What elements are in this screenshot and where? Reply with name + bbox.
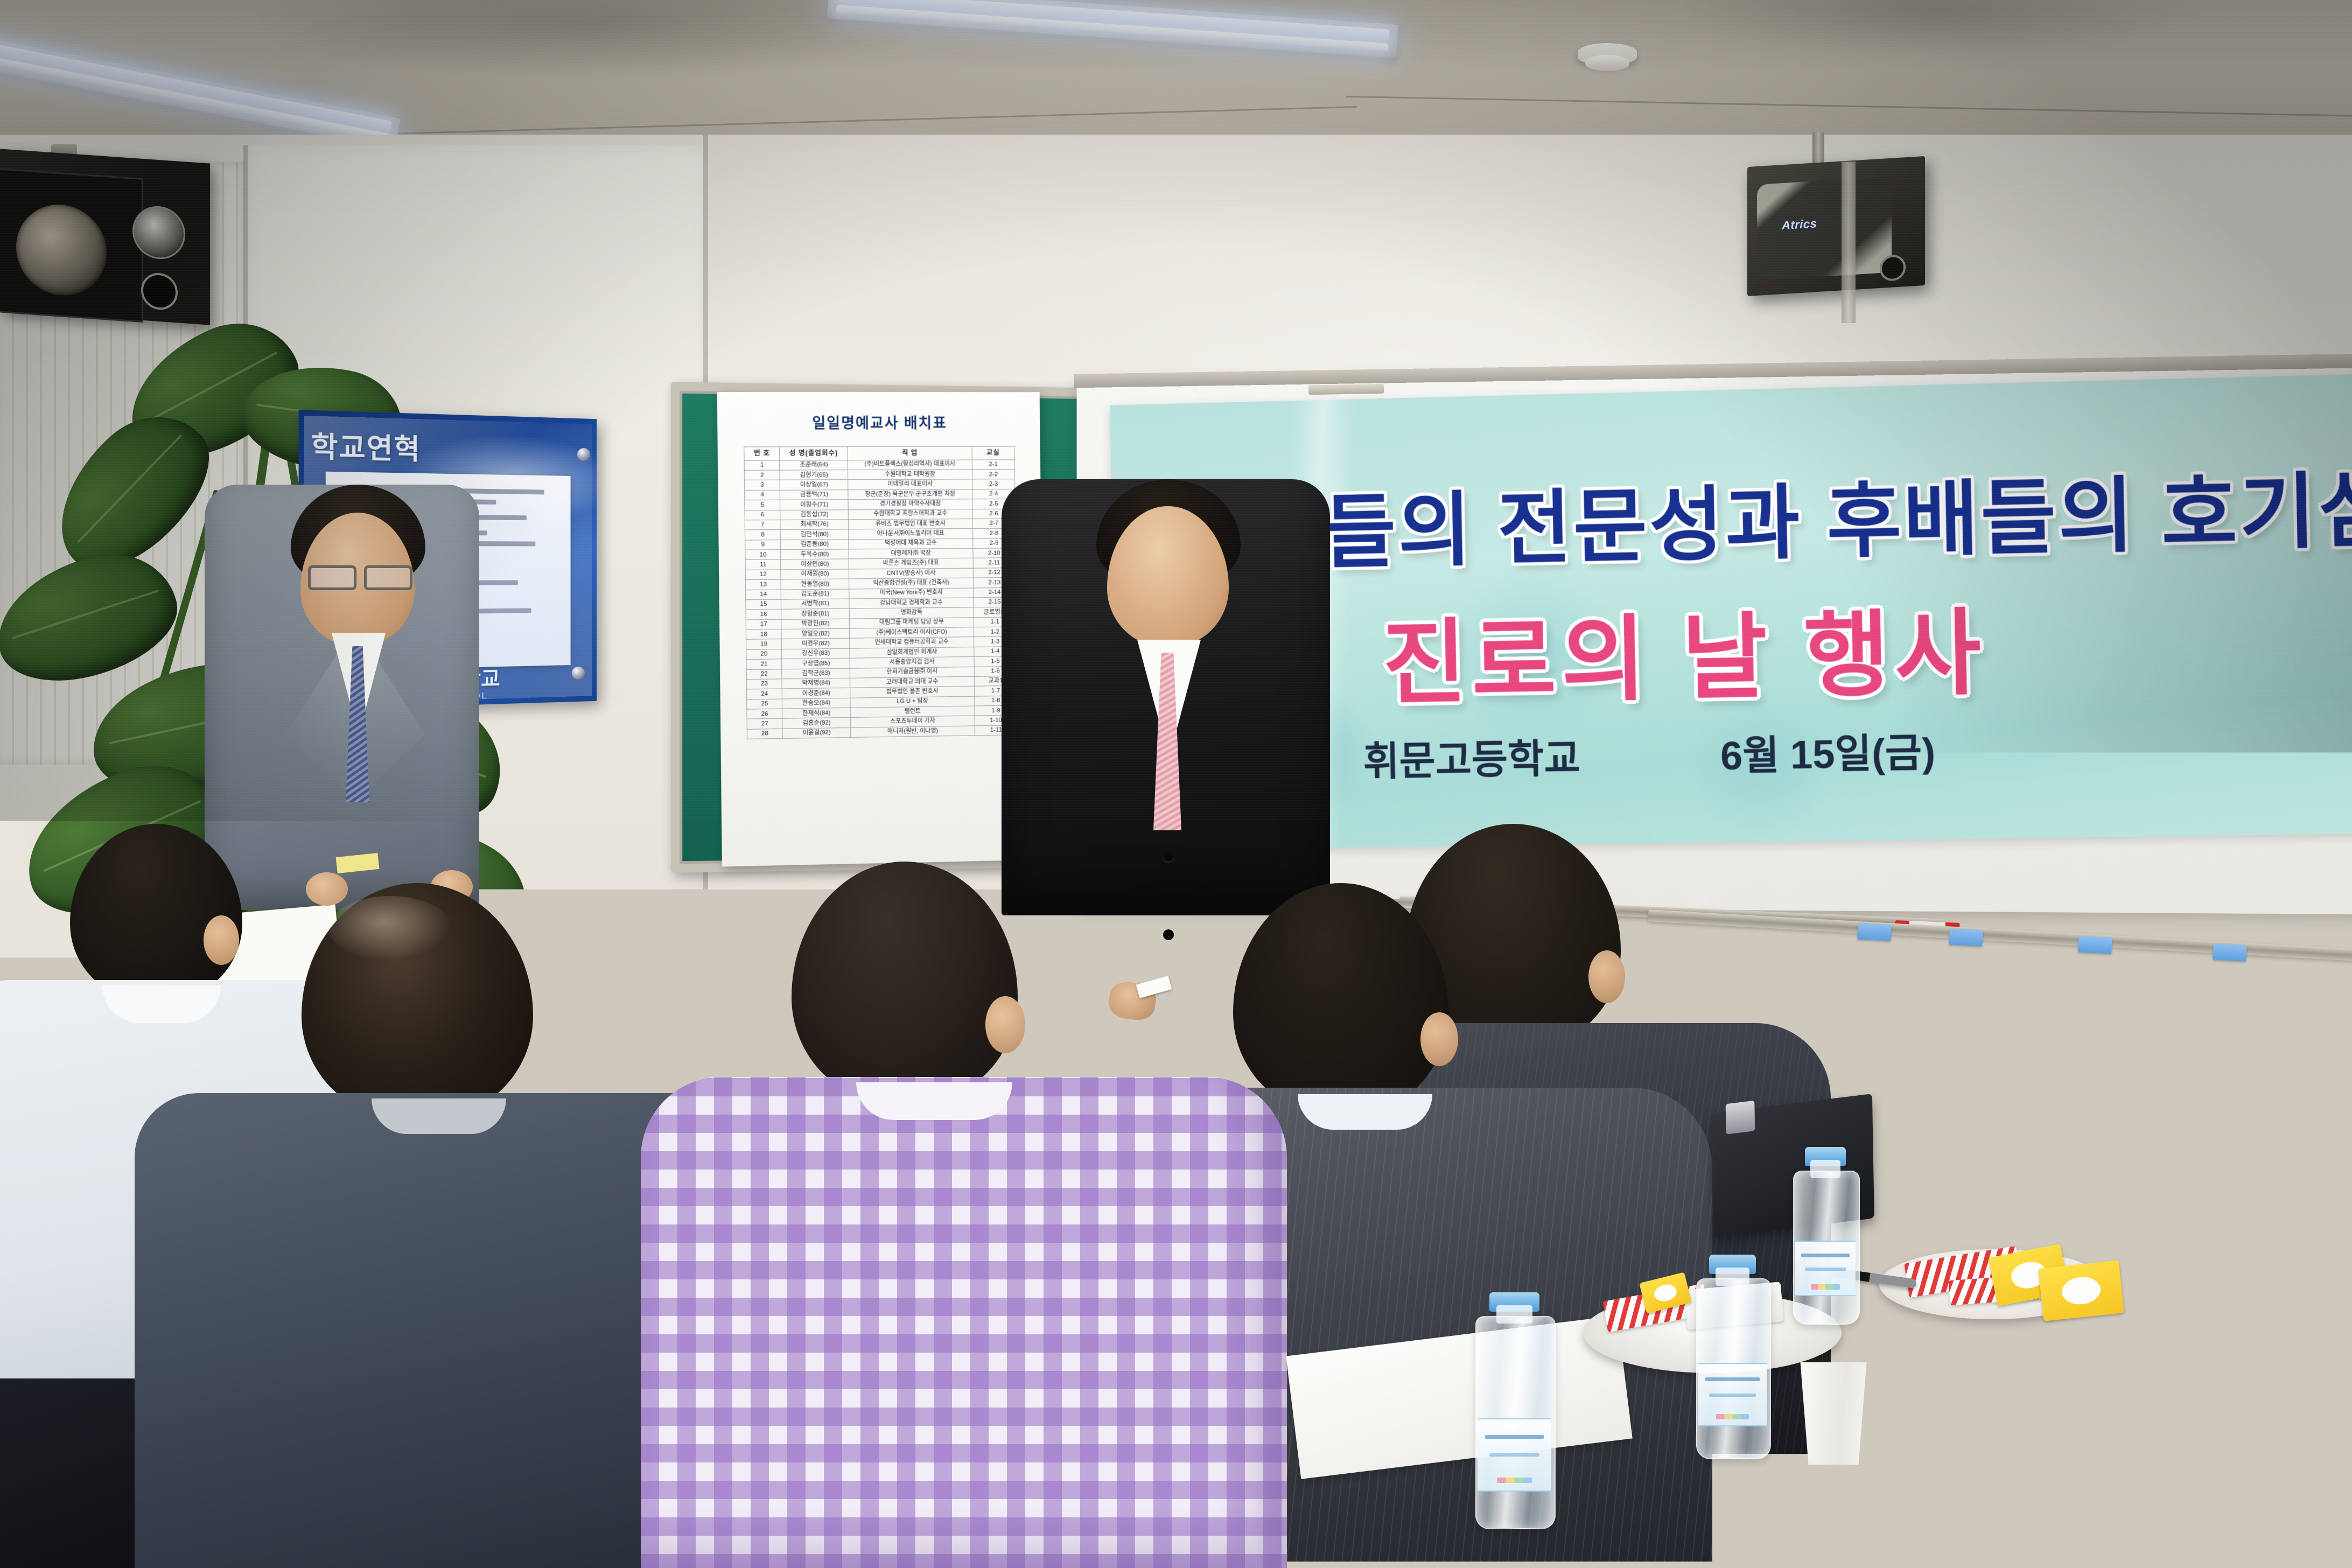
assignment-chart-sheet: 일일명예교사 배치표 번 호성 명(졸업회수)직 업교실 1조준래(64)(주)… [717,392,1045,867]
whiteboard-eraser[interactable] [1857,923,1891,941]
table-cell: 현동열(80) [781,579,849,589]
table-header-row: 번 호성 명(졸업회수)직 업교실 [744,446,1014,460]
table-cell: 금용백(71) [780,489,849,500]
table-cell: 이데일리 대표이사 [848,479,972,489]
table-cell: 1 [744,460,780,471]
table-cell: 이윤걸(92) [782,727,850,738]
table-row: 1조준래(64)(주)비트플렉스(왕십리역사) 대표이사2-1 [744,459,1014,470]
sign-header: 학교연혁 [311,424,421,467]
table-cell: 5 [745,500,780,510]
table-cell: 수원대학교 대학원장 [848,470,972,480]
speaker-mount [1812,132,1824,166]
table-cell: 14 [746,590,781,600]
table-cell: 김동섭(72) [780,509,849,520]
table-col-header-3: 교실 [971,446,1014,460]
smoke-detector-icon [1578,43,1637,66]
table-cell: 13 [745,579,781,590]
table-cell: 2-1 [972,459,1015,470]
table-cell: 19 [746,639,782,649]
table-cell: 서병학(81) [781,599,849,610]
banner-date: 6월 15일(금) [1720,720,1936,782]
speaker-brand-label: Atrics [1782,216,1817,233]
table-row: 4금용백(71)장군(준장) 육군본부 군구조개편 차장2-4 [745,489,1015,500]
table-cell: 강남대학교 경제학과 교수 [849,598,973,609]
banner-line-2: 진로의 날 행사 [1381,577,1987,722]
sheet-title: 일일명예교사 배치표 [717,411,1040,432]
table-cell: 익산종합건설(주) 대표 (건축사) [849,578,973,589]
table-cell: 이상일(67) [780,480,848,490]
table-row: 2김현기(65)수원대학교 대학원장2-2 [744,470,1014,480]
table-cell: 박재명(84) [782,678,850,689]
table-cell: 7 [745,520,780,530]
whiteboard-eraser[interactable] [2078,936,2112,954]
table-cell: 이경준(84) [782,688,850,699]
table-cell: 한승오(84) [782,698,850,709]
table-cell: 3 [744,480,780,491]
table-cell: 두욱수(80) [781,549,849,559]
table-cell: 이재원(80) [781,569,849,579]
table-cell: 덕성여대 체육과 교수 [849,538,972,549]
table-cell: 이경우(82) [782,639,850,649]
table-cell: 15 [746,599,781,610]
table-cell: CNTV(방송사) 이사 [849,568,973,579]
table-cell: 장항준(81) [781,608,849,619]
table-cell: 25 [747,699,782,709]
table-cell: 조준래(64) [780,460,848,470]
table-cell: 28 [747,729,782,739]
table-cell: (주)비트플렉스(왕십리역사) 대표이사 [848,460,972,470]
table-cell: 김학군(83) [782,668,850,679]
assignment-table: 번 호성 명(졸업회수)직 업교실 1조준래(64)(주)비트플렉스(왕십리역사… [744,446,1018,740]
table-cell: 18 [746,629,781,639]
table-cell: 이원수(71) [780,500,849,510]
table-cell: 영화감독 [849,607,973,619]
sign-stud [572,667,585,680]
table-cell: 8 [745,530,780,540]
table-cell: 23 [746,679,782,689]
table-cell: 21 [746,659,782,669]
projector-arm [1842,162,1856,323]
table-col-header-2: 직 업 [848,446,972,460]
table-cell: 2-2 [972,470,1015,480]
table-cell: 9 [745,540,781,550]
table-cell: 2 [744,470,780,480]
banner-school-name: 휘문고등학교 [1363,726,1581,787]
seated-attendee-gingham-shirt [695,862,1244,1568]
table-cell: 27 [747,719,782,729]
banner-clip [1308,384,1384,395]
table-cell: 22 [746,669,782,679]
table-cell: 경기경찰청 마약수사대장 [848,499,972,509]
table-cell: 미국(New York주) 변호사 [849,588,973,599]
table-cell: 16 [746,610,781,620]
water-bottle[interactable] [1475,1292,1553,1529]
table-cell: 26 [747,709,782,719]
table-cell: 김홍순(92) [782,718,850,729]
table-cell: 6 [745,510,780,520]
table-cell: 20 [746,649,782,659]
table-col-header-0: 번 호 [744,447,780,460]
whiteboard-eraser[interactable] [2213,943,2246,961]
table-row: 5이원수(71)경기경찰청 마약수사대장2-5 [745,499,1015,510]
table-cell: 김현기(65) [780,470,848,480]
table-cell: 24 [747,689,782,699]
table-cell: 박광진(82) [781,619,849,629]
table-cell: 김민석(80) [780,529,849,540]
table-cell: 김준동(80) [781,540,849,550]
table-cell: 구상엽(85) [782,658,850,669]
table-cell: 11 [745,559,781,570]
table-cell: 이상민(80) [781,559,849,569]
table-cell: 최세학(76) [780,520,849,530]
table-cell: 대림그룹 마케팅 담당 상무 [849,617,973,628]
table-cell: 수원대학교 프랑스어학과 교수 [848,509,972,520]
table-cell: 대명레저㈜ 국장 [849,548,972,559]
table-cell: 매니저(원빈, 이나영) [851,726,975,738]
table-cell: 강신우(83) [782,648,850,659]
whiteboard-eraser[interactable] [1949,928,1983,946]
seated-attendee-foreground-right [1982,1255,2352,1568]
table-cell: 4 [745,490,780,500]
conference-room-photo: Atrics 학교연혁 2004. 4. [0,0,2352,1568]
table-cell: 양일오(82) [781,628,849,639]
table-cell: 12 [745,570,781,580]
table-cell: 바론손 게임즈(주) 대표 [849,558,972,569]
table-cell: 아나운서㈜이노밀리어 대표 [849,529,972,540]
table-cell: 17 [746,619,781,629]
table-col-header-1: 성 명(졸업회수) [780,447,848,460]
sign-stud [577,448,590,461]
wall-speaker: Atrics [1747,156,1925,296]
water-bottle[interactable] [1696,1255,1769,1459]
water-bottle[interactable] [1793,1147,1858,1325]
table-row: 3이상일(67)이데일리 대표이사2-3 [744,479,1014,490]
table-cell: 유비즈 법무법인 대표 변호사 [849,519,972,529]
table-cell: 한재석(84) [782,708,850,718]
table-cell: 김도훈(81) [781,589,849,600]
table-cell: 장군(준장) 육군본부 군구조개편 차장 [848,489,972,500]
table-cell: 10 [745,550,781,560]
corner-speaker [0,149,210,325]
